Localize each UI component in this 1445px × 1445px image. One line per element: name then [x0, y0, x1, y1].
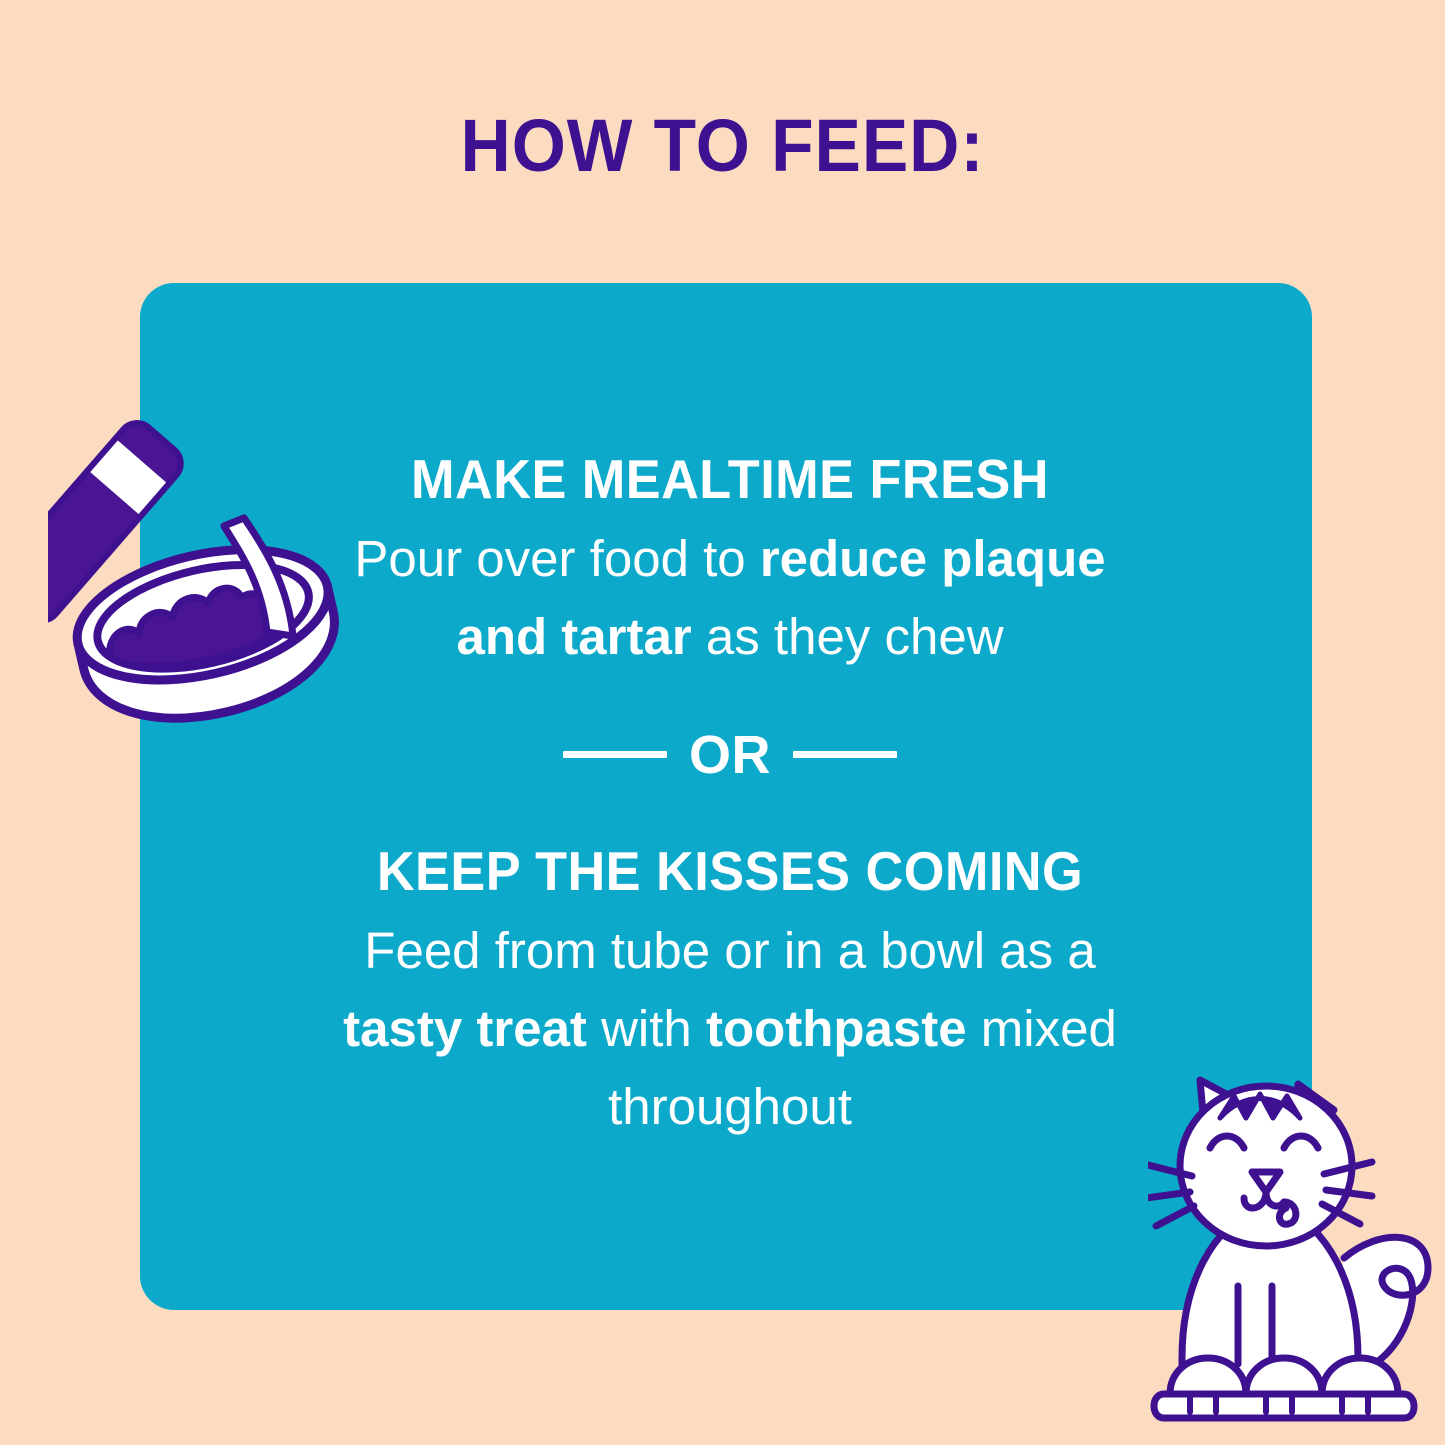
poster-root: HOW TO FEED: — [0, 0, 1445, 1445]
divider-line-right — [793, 751, 897, 758]
feed-option-block-2: KEEP THE KISSES COMING Feed from tube or… — [330, 840, 1130, 1146]
feed-option-heading-1: MAKE MEALTIME FRESH — [350, 448, 1110, 510]
body-segment: Pour over food to — [354, 530, 759, 587]
feed-option-heading-2: KEEP THE KISSES COMING — [350, 840, 1110, 902]
or-divider: OR — [563, 728, 897, 782]
feed-option-body-2: Feed from tube or in a bowl as a tasty t… — [330, 912, 1130, 1146]
feed-option-block-1: MAKE MEALTIME FRESH Pour over food to re… — [330, 448, 1130, 676]
body-segment: Feed from tube or in a bowl as a — [364, 922, 1095, 979]
body-segment: with — [587, 1000, 706, 1057]
feed-option-body-1: Pour over food to reduce plaque and tart… — [330, 520, 1130, 676]
or-label: OR — [689, 728, 771, 782]
divider-line-left — [563, 751, 667, 758]
page-title: HOW TO FEED: — [43, 104, 1401, 188]
feeding-instructions-text: MAKE MEALTIME FRESH Pour over food to re… — [300, 283, 1160, 1310]
body-segment-bold: tasty treat — [343, 1000, 587, 1057]
body-segment: as they chew — [692, 608, 1004, 665]
body-segment-bold: toothpaste — [706, 1000, 967, 1057]
